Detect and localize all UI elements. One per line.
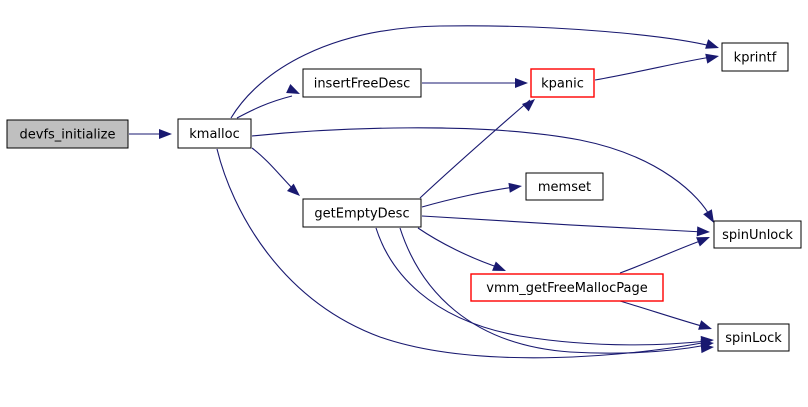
arrowhead-icon (705, 39, 720, 53)
call-graph-canvas: devfs_initializekmallocinsertFreeDesckpa… (0, 0, 808, 407)
node-memset[interactable]: memset (526, 173, 603, 200)
arrowhead-icon (698, 320, 713, 334)
node-box-kmalloc[interactable] (178, 119, 251, 148)
node-getEmptyDesc[interactable]: getEmptyDesc (303, 199, 421, 227)
node-devfs_initialize[interactable]: devfs_initialize (7, 120, 128, 148)
call-graph-svg: devfs_initializekmallocinsertFreeDesckpa… (0, 0, 808, 407)
node-kpanic[interactable]: kpanic (531, 69, 594, 97)
call-edge-getEmptyDesc-to-memset (422, 187, 515, 207)
node-insertFreeDesc[interactable]: insertFreeDesc (303, 69, 421, 97)
node-spinLock[interactable]: spinLock (718, 324, 789, 351)
node-spinUnlock[interactable]: spinUnlock (714, 221, 801, 248)
arrowhead-icon (508, 181, 522, 193)
call-edge-getEmptyDesc-to-kpanic (420, 100, 530, 198)
node-box-kprintf[interactable] (722, 43, 788, 71)
node-box-kpanic[interactable] (531, 69, 594, 97)
node-vmm_getFreeMallocPage[interactable]: vmm_getFreeMallocPage (471, 274, 663, 301)
node-box-memset[interactable] (526, 173, 603, 200)
call-edge-getEmptyDesc-to-vmm_getFreeMallocPage (418, 228, 500, 268)
node-kprintf[interactable]: kprintf (722, 43, 788, 71)
node-box-insertFreeDesc[interactable] (303, 69, 421, 97)
nodes-layer: devfs_initializekmallocinsertFreeDesckpa… (7, 43, 801, 351)
node-box-spinUnlock[interactable] (714, 221, 801, 248)
call-edge-vmm_getFreeMallocPage-to-spinLock (620, 301, 705, 327)
arrowhead-icon (522, 95, 538, 111)
call-edge-getEmptyDesc-to-spinUnlock (422, 216, 703, 232)
node-box-devfs_initialize[interactable] (7, 120, 128, 148)
arrowhead-icon (515, 78, 528, 88)
arrowhead-icon (697, 226, 711, 237)
node-box-getEmptyDesc[interactable] (303, 199, 421, 227)
call-edge-kpanic-to-kprintf (595, 57, 711, 80)
call-edge-vmm_getFreeMallocPage-to-spinUnlock (620, 240, 703, 273)
arrowhead-icon (705, 51, 720, 63)
arrowhead-icon (159, 129, 172, 139)
node-kmalloc[interactable]: kmalloc (178, 119, 251, 148)
node-box-spinLock[interactable] (718, 324, 789, 351)
node-box-vmm_getFreeMallocPage[interactable] (471, 274, 663, 301)
call-edge-kmalloc-to-getEmptyDesc (252, 148, 294, 190)
